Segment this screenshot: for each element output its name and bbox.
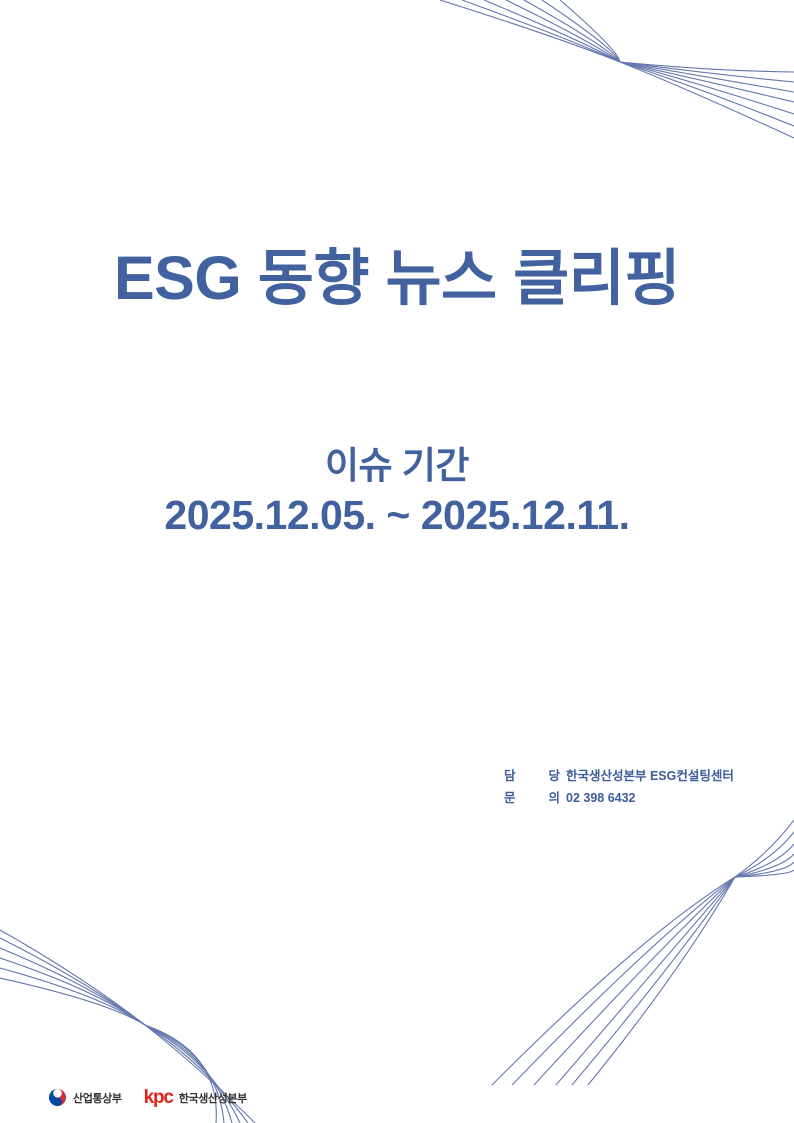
contact-label-inquiry-char2: 의 xyxy=(548,787,560,809)
taegeuk-icon xyxy=(48,1088,67,1107)
logo-kpc: kpc 한국생산성본부 xyxy=(144,1088,247,1107)
logo-motie: 산업통상부 xyxy=(48,1088,122,1107)
contact-row-manager: 담 당 한국생산성본부 ESG컨설팅센터 xyxy=(504,765,734,787)
issue-period-label: 이슈 기간 xyxy=(0,443,794,489)
page-title: ESG 동향 뉴스 클리핑 xyxy=(0,245,794,312)
contact-block: 담 당 한국생산성본부 ESG컨설팅센터 문 의 02 398 6432 xyxy=(504,765,734,809)
contact-label-manager: 담 당 xyxy=(504,765,560,787)
decorative-lines-bottom-right xyxy=(0,0,794,1123)
contact-value-inquiry: 02 398 6432 xyxy=(566,787,636,809)
kpc-wordmark: kpc xyxy=(144,1088,173,1107)
decorative-lines-bottom-left xyxy=(0,0,794,1123)
issue-period-range: 2025.12.05. ~ 2025.12.11. xyxy=(0,489,794,542)
contact-value-manager: 한국생산성본부 ESG컨설팅센터 xyxy=(566,765,734,787)
footer-logos: 산업통상부 kpc 한국생산성본부 xyxy=(48,1088,247,1107)
issue-period-block: 이슈 기간 2025.12.05. ~ 2025.12.11. xyxy=(0,443,794,543)
contact-label-manager-char2: 당 xyxy=(548,765,560,787)
contact-row-inquiry: 문 의 02 398 6432 xyxy=(504,787,734,809)
contact-label-inquiry: 문 의 xyxy=(504,787,560,809)
decorative-lines-top-right xyxy=(0,0,794,1123)
contact-label-inquiry-char1: 문 xyxy=(504,787,516,809)
logo-motie-label: 산업통상부 xyxy=(73,1090,122,1106)
contact-label-manager-char1: 담 xyxy=(504,765,516,787)
logo-kpc-label: 한국생산성본부 xyxy=(179,1090,247,1106)
cover-title-block: ESG 동향 뉴스 클리핑 xyxy=(0,245,794,312)
